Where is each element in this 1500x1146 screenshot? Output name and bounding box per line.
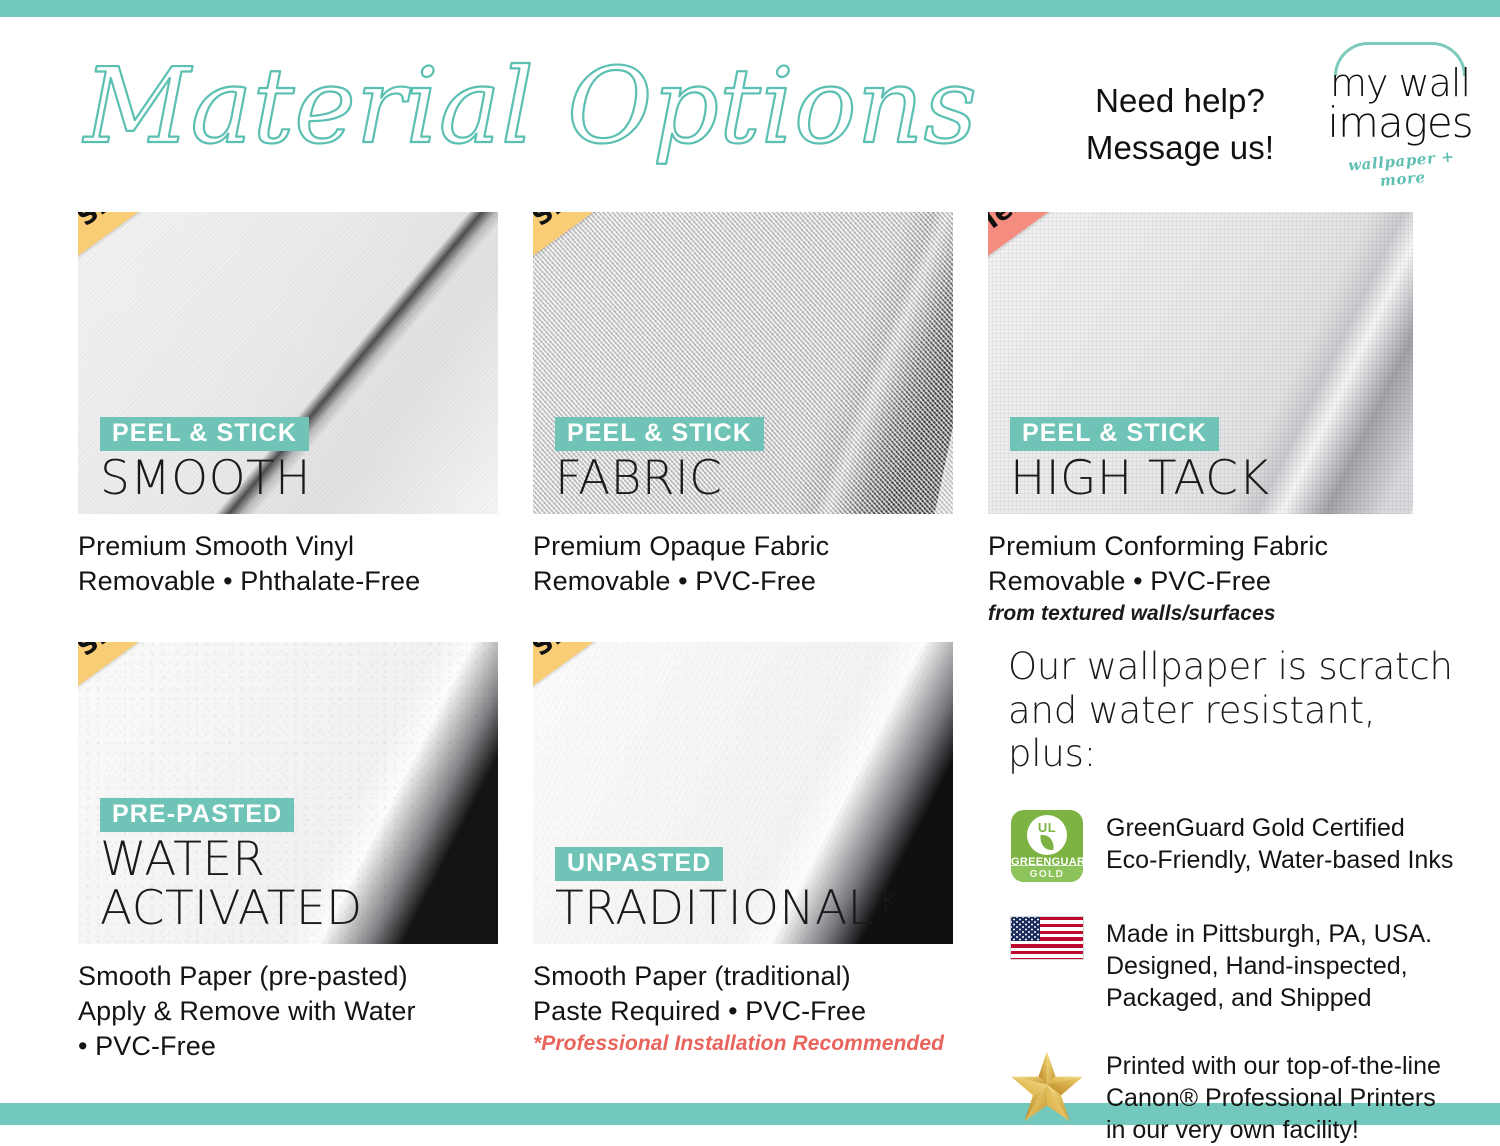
- need-help-line-1: Need help?: [1050, 78, 1310, 125]
- material-photo: for Smooth Walls PEEL & STICK FABRIC: [533, 212, 953, 514]
- feature-text: Printed with our top-of-the-line Canon® …: [1106, 1048, 1441, 1146]
- material-description: Smooth Paper (traditional) Paste Require…: [533, 959, 973, 1057]
- desc-line: Apply & Remove with Water: [78, 994, 498, 1029]
- wall-type-ribbon: for Textured Walls: [988, 212, 1217, 307]
- gold-star-icon: [1008, 1048, 1086, 1124]
- desc-line: Removable • PVC-Free: [988, 564, 1413, 599]
- material-photo: for Textured Walls PEEL & STICK HIGH TAC…: [988, 212, 1413, 514]
- gold-label: GOLD: [1011, 869, 1083, 880]
- need-help-line-2: Message us!: [1050, 125, 1310, 172]
- material-name: WATER ACTIVATED: [100, 836, 363, 934]
- material-note: from textured walls/surfaces: [988, 600, 1413, 627]
- material-card-water-activated[interactable]: for Smooth Walls PRE-PASTED WATER ACTIVA…: [78, 642, 498, 1064]
- paper-fold-shadow: [777, 212, 953, 514]
- wall-type-ribbon-label: for Smooth Walls: [78, 642, 253, 693]
- material-card-traditional[interactable]: for Smooth Walls UNPASTED TRADITIONAL* S…: [533, 642, 973, 1057]
- material-name: HIGH TACK: [1010, 455, 1270, 504]
- logo-word-2: images: [1320, 102, 1480, 144]
- feature-row-made-in-usa: Made in Pittsburgh, PA, USA. Designed, H…: [1008, 916, 1460, 1014]
- material-note: *Professional Installation Recommended: [533, 1030, 973, 1057]
- desc-line: Paste Required • PVC-Free: [533, 994, 973, 1029]
- wall-type-ribbon-label: for Textured Walls: [988, 212, 1170, 268]
- material-name: TRADITIONAL*: [555, 885, 898, 934]
- material-description: Premium Conforming Fabric Removable • PV…: [988, 529, 1413, 627]
- features-panel: Our wallpaper is scratch and water resis…: [1008, 645, 1460, 1146]
- ul-label: UL: [1027, 820, 1067, 835]
- wall-type-ribbon-label: for Smooth Walls: [533, 212, 708, 263]
- material-description: Premium Smooth Vinyl Removable • Phthala…: [78, 529, 498, 599]
- material-card-high-tack[interactable]: for Textured Walls PEEL & STICK HIGH TAC…: [988, 212, 1413, 627]
- wall-type-ribbon-label: for Smooth Walls: [533, 642, 708, 693]
- adhesion-badge: PEEL & STICK: [1010, 417, 1219, 451]
- wall-type-ribbon: for Smooth Walls: [533, 212, 762, 307]
- desc-line: • PVC-Free: [78, 1029, 498, 1064]
- adhesion-badge: PRE-PASTED: [100, 798, 294, 832]
- greenguard-gold-badge-icon: UL GREENGUARD GOLD: [1008, 810, 1086, 882]
- feature-text: Made in Pittsburgh, PA, USA. Designed, H…: [1106, 916, 1432, 1014]
- page-title-text: Material Options: [82, 45, 977, 167]
- adhesion-badge: UNPASTED: [555, 847, 723, 881]
- page-title: Material Options: [78, 52, 718, 172]
- adhesion-badge: PEEL & STICK: [555, 417, 764, 451]
- desc-line: Smooth Paper (traditional): [533, 959, 973, 994]
- brand-logo[interactable]: my wall images wallpaper + more: [1320, 40, 1480, 180]
- need-help-block: Need help? Message us!: [1050, 78, 1310, 172]
- wall-type-ribbon-label: for Smooth Walls: [78, 212, 253, 263]
- wall-type-ribbon: for Smooth Walls: [78, 212, 307, 307]
- material-name: SMOOTH: [100, 455, 311, 504]
- material-labels: PEEL & STICK FABRIC: [555, 417, 764, 504]
- desc-line: Premium Smooth Vinyl: [78, 529, 498, 564]
- material-card-fabric[interactable]: for Smooth Walls PEEL & STICK FABRIC Pre…: [533, 212, 953, 599]
- material-photo: for Smooth Walls PRE-PASTED WATER ACTIVA…: [78, 642, 498, 944]
- material-photo: for Smooth Walls PEEL & STICK SMOOTH: [78, 212, 498, 514]
- wall-type-ribbon: for Smooth Walls: [533, 642, 762, 737]
- desc-line: Smooth Paper (pre-pasted): [78, 959, 498, 994]
- usa-flag-icon: [1008, 916, 1086, 960]
- desc-line: Premium Conforming Fabric: [988, 529, 1413, 564]
- material-labels: PEEL & STICK HIGH TACK: [1010, 417, 1270, 504]
- material-name: FABRIC: [555, 455, 764, 504]
- features-heading: Our wallpaper is scratch and water resis…: [1008, 645, 1460, 776]
- desc-line: Removable • PVC-Free: [533, 564, 953, 599]
- feature-row-greenguard: UL GREENGUARD GOLD GreenGuard Gold Certi…: [1008, 810, 1460, 882]
- material-description: Premium Opaque Fabric Removable • PVC-Fr…: [533, 529, 953, 599]
- material-labels: PEEL & STICK SMOOTH: [100, 417, 311, 504]
- ul-mark-icon: UL: [1027, 815, 1067, 855]
- logo-word-1: my wall: [1320, 64, 1480, 102]
- logo-tagline: wallpaper + more: [1335, 146, 1470, 193]
- desc-line: Premium Opaque Fabric: [533, 529, 953, 564]
- desc-line: Removable • Phthalate-Free: [78, 564, 498, 599]
- material-description: Smooth Paper (pre-pasted) Apply & Remove…: [78, 959, 498, 1064]
- material-labels: UNPASTED TRADITIONAL*: [555, 847, 898, 934]
- top-accent-bar: [0, 0, 1500, 17]
- material-card-smooth[interactable]: for Smooth Walls PEEL & STICK SMOOTH Pre…: [78, 212, 498, 599]
- material-photo: for Smooth Walls UNPASTED TRADITIONAL*: [533, 642, 953, 944]
- material-labels: PRE-PASTED WATER ACTIVATED: [100, 798, 363, 934]
- feature-text: GreenGuard Gold Certified Eco-Friendly, …: [1106, 810, 1453, 876]
- wall-type-ribbon: for Smooth Walls: [78, 642, 307, 737]
- adhesion-badge: PEEL & STICK: [100, 417, 309, 451]
- feature-row-canon-printers: Printed with our top-of-the-line Canon® …: [1008, 1048, 1460, 1146]
- leaf-icon: [1041, 835, 1054, 850]
